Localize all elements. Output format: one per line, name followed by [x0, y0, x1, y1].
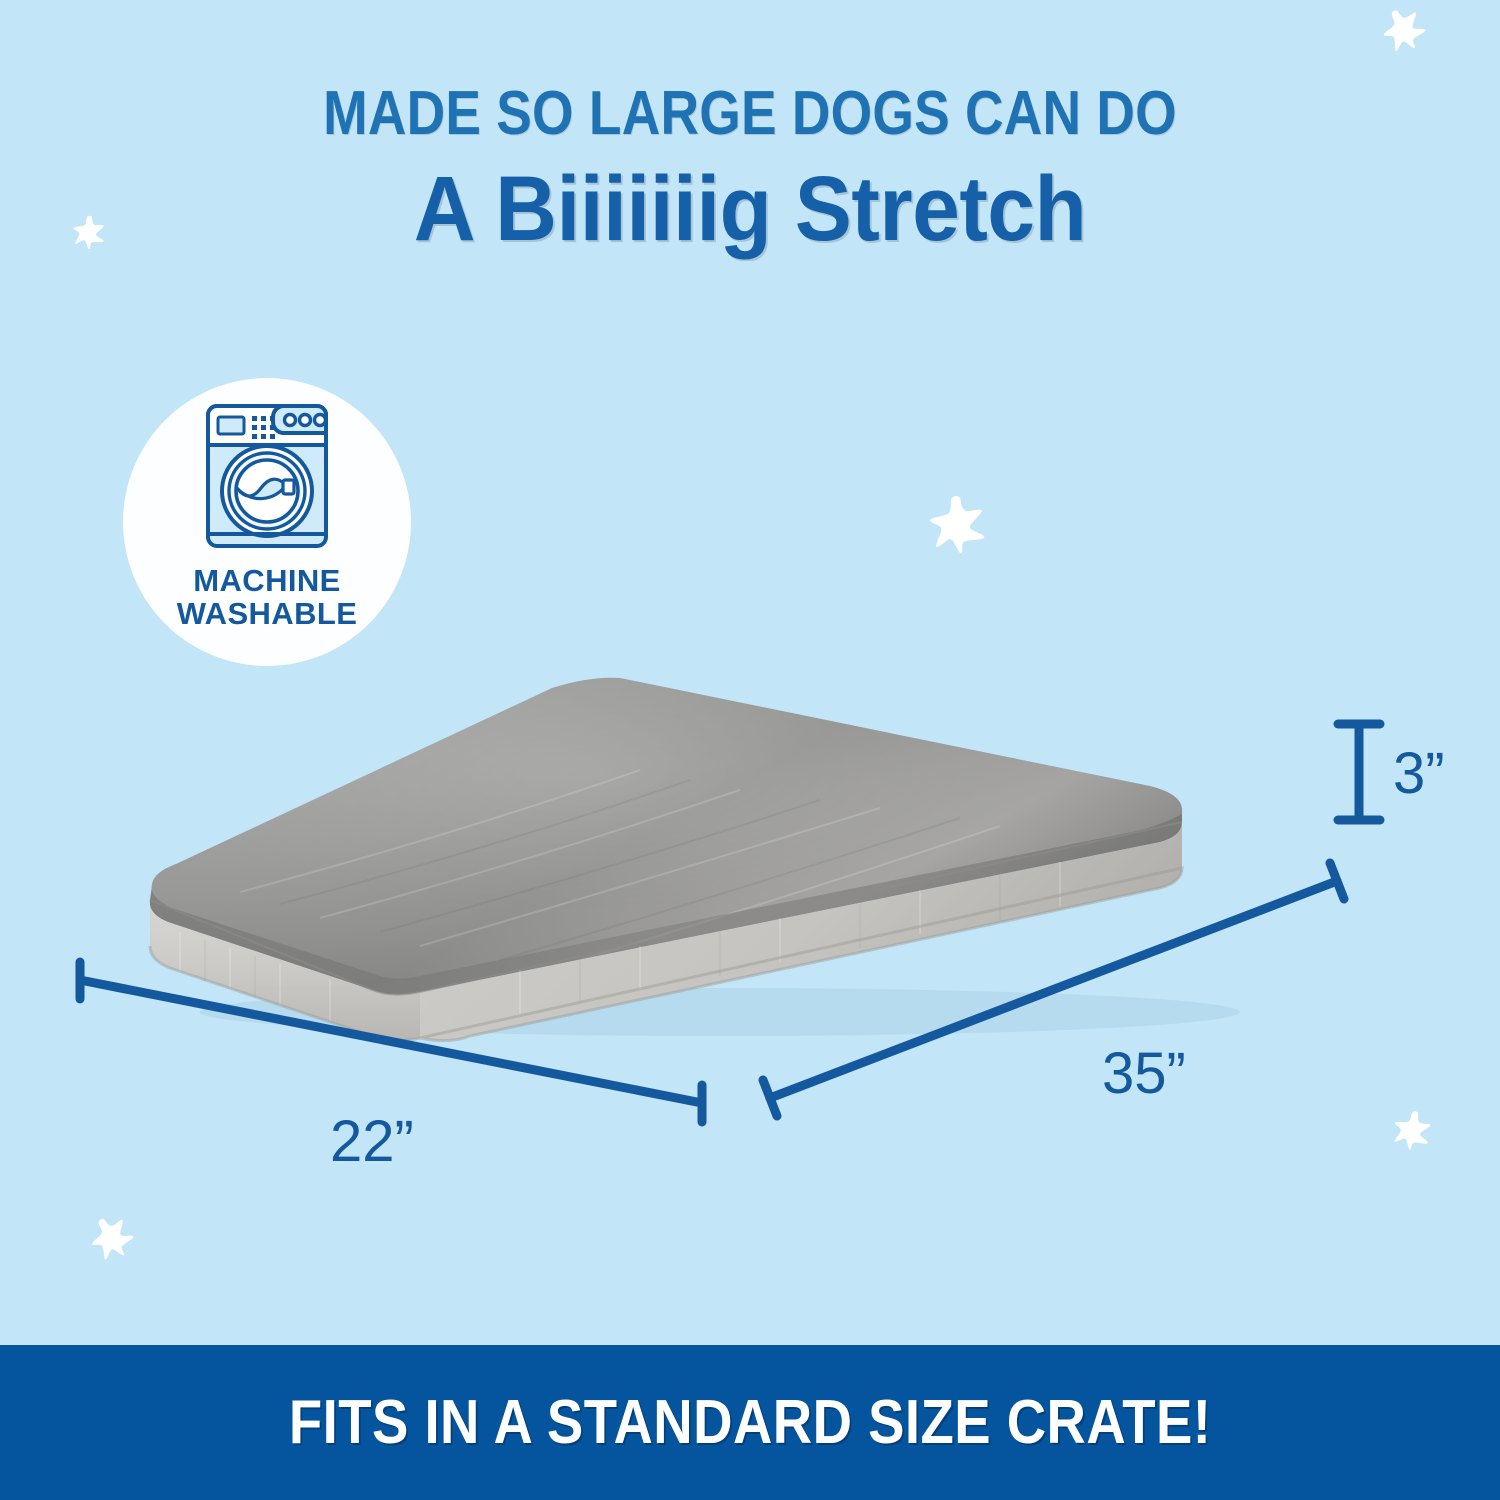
bottom-banner: FITS IN A STANDARD SIZE CRATE! [0, 1345, 1500, 1500]
banner-text: FITS IN A STANDARD SIZE CRATE! [289, 1387, 1212, 1458]
dimension-annotations [0, 0, 1500, 1500]
dimension-label-height: 3” [1393, 740, 1445, 807]
dimension-label-length: 35” [1102, 1040, 1186, 1107]
dimension-label-width: 22” [330, 1108, 414, 1175]
product-infographic: MADE SO LARGE DOGS CAN DO A Biiiiiiig St… [0, 0, 1500, 1500]
